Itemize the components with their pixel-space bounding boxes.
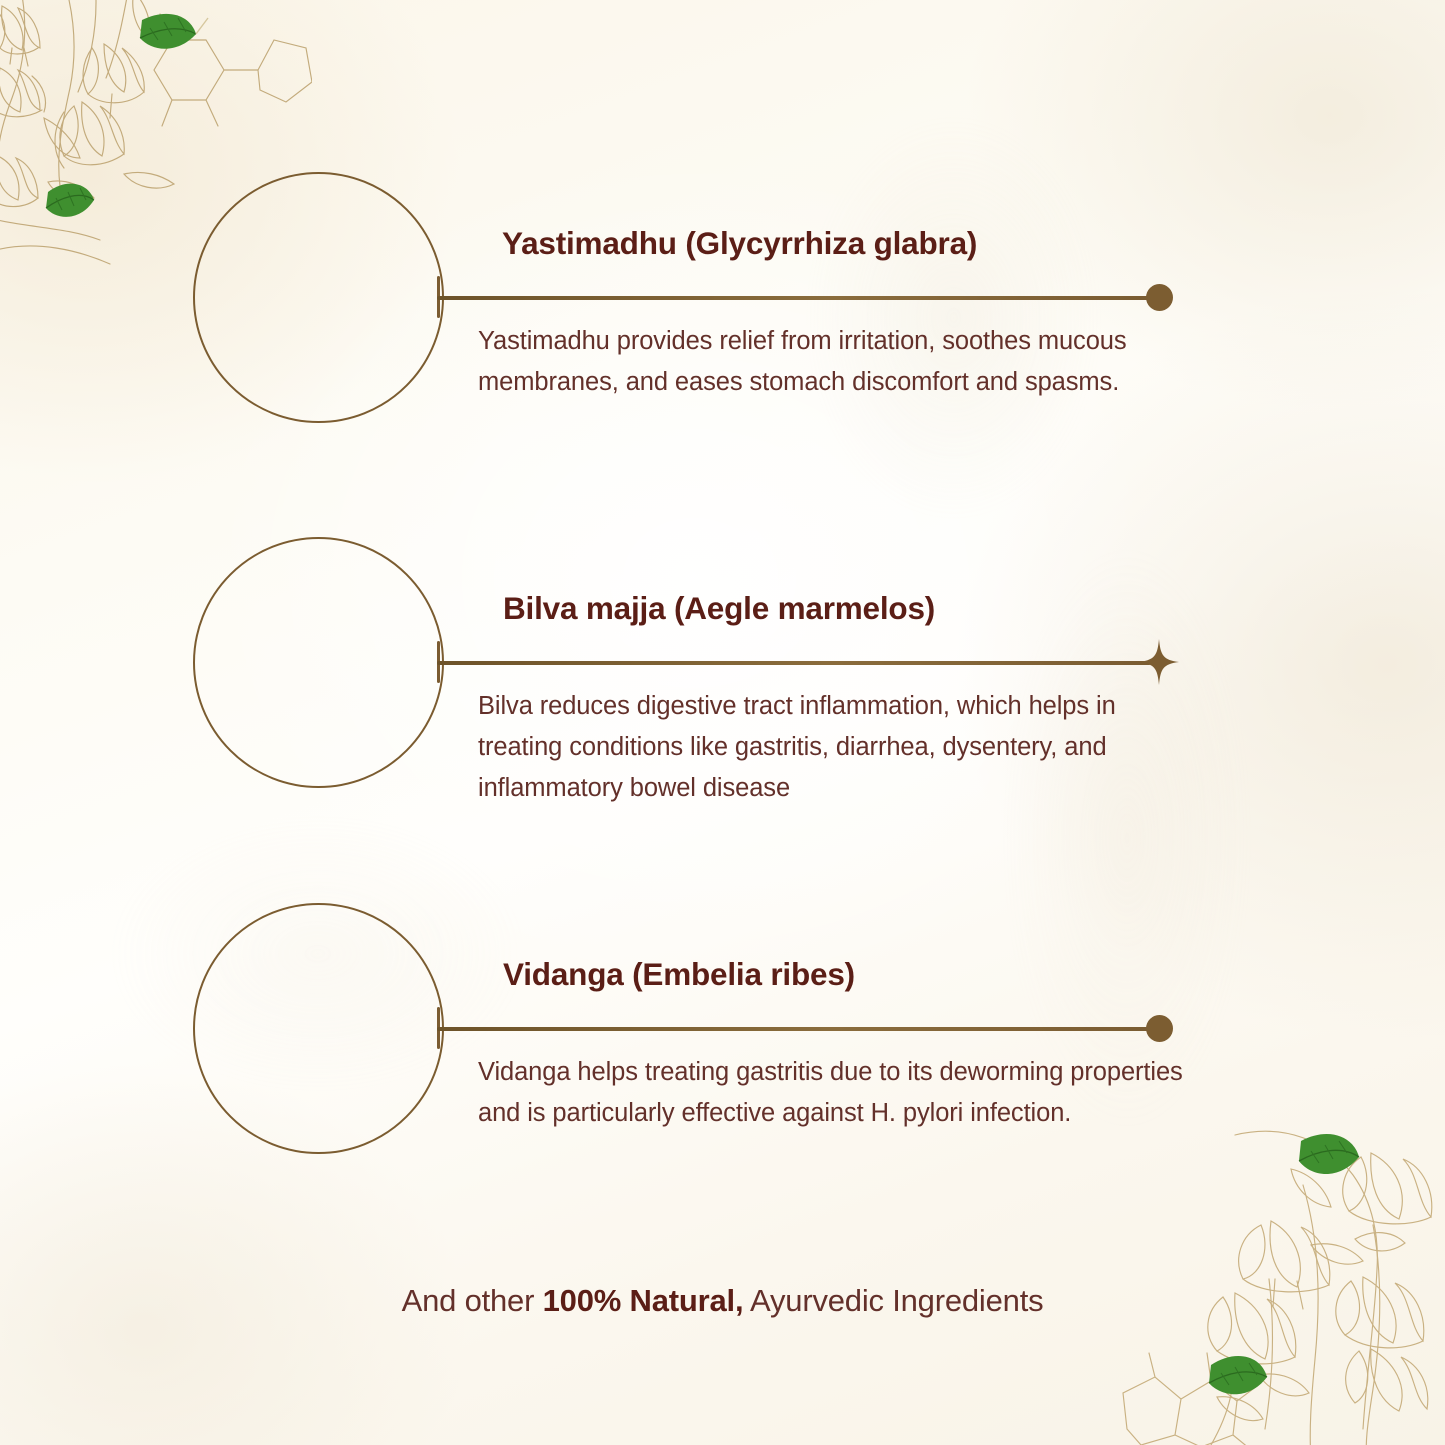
- connector-rule: [437, 661, 1151, 665]
- ingredient-image-bilva: [212, 555, 426, 769]
- leaf-icon: [1209, 1356, 1267, 1394]
- leaf-icon: [140, 14, 208, 49]
- leaf-icon: [1299, 1134, 1359, 1174]
- connector-dot-icon: [1146, 284, 1173, 311]
- footer-tagline: And other 100% Natural, Ayurvedic Ingred…: [0, 1283, 1445, 1319]
- connector-sparkle-icon: [1139, 639, 1179, 685]
- footer-suffix: Ayurvedic Ingredients: [743, 1283, 1043, 1318]
- ingredient-title: Vidanga (Embelia ribes): [503, 956, 855, 993]
- footer-emphasis: 100% Natural,: [543, 1283, 744, 1318]
- ingredient-description: Vidanga helps treating gastritis due to …: [478, 1052, 1204, 1134]
- connector-rule: [437, 296, 1151, 300]
- ingredients-infographic: Yastimadhu (Glycyrrhiza glabra) Yastimad…: [0, 0, 1445, 1445]
- connector-line: [437, 655, 1173, 669]
- ingredient-image-vidanga: [212, 921, 426, 1135]
- ingredient-title: Yastimadhu (Glycyrrhiza glabra): [502, 225, 977, 262]
- ingredient-description: Yastimadhu provides relief from irritati…: [478, 321, 1204, 403]
- connector-line: [437, 290, 1173, 304]
- ingredient-title: Bilva majja (Aegle marmelos): [503, 590, 935, 627]
- connector-line: [437, 1021, 1173, 1035]
- ingredient-image-yastimadhu: [212, 190, 426, 404]
- footer-prefix: And other: [402, 1283, 543, 1318]
- leaf-icon: [46, 184, 94, 217]
- ingredient-description: Bilva reduces digestive tract inflammati…: [478, 686, 1204, 809]
- connector-dot-icon: [1146, 1015, 1173, 1042]
- connector-rule: [437, 1027, 1151, 1031]
